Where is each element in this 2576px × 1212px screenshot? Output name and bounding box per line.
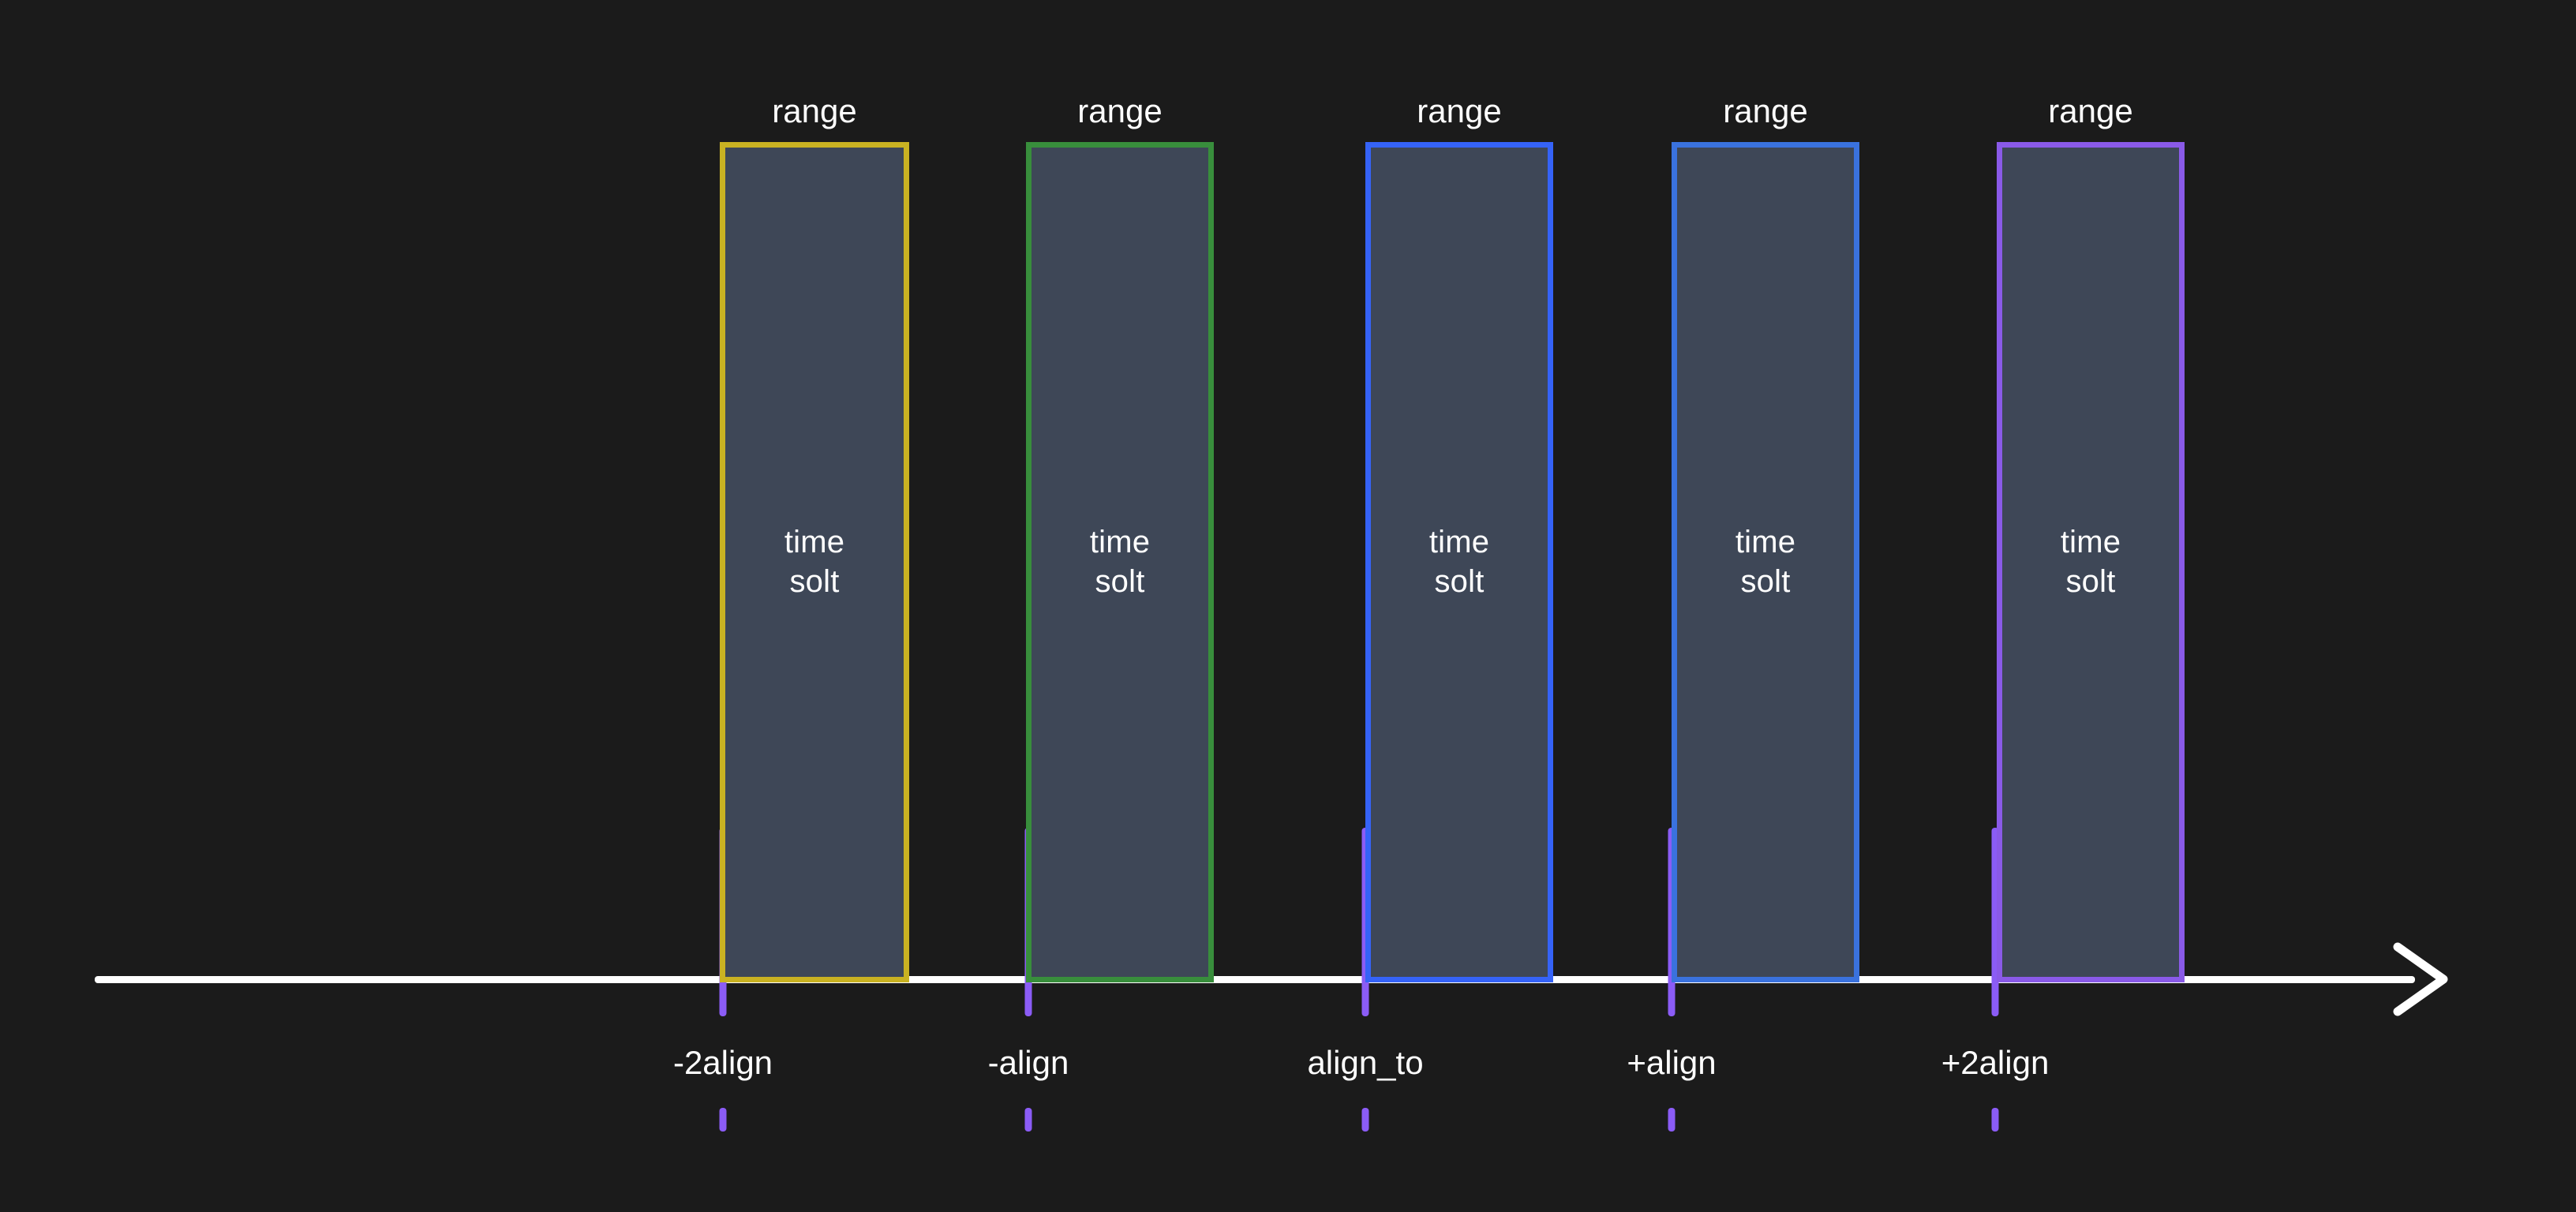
- axis-tick-dash-slot-minus-align: [1025, 1108, 1032, 1132]
- slot-plus-2align: time solt: [1997, 142, 2185, 982]
- range-caption: range: [2048, 95, 2132, 128]
- slot-body-label: time solt: [1090, 523, 1150, 601]
- slot-minus-align: time solt: [1026, 142, 1214, 982]
- axis-tick-label-slot-minus-2align: -2align: [673, 1046, 773, 1079]
- arrow-right-icon: [2387, 936, 2458, 1023]
- range-caption: range: [1077, 95, 1162, 128]
- diagram-canvas: rangetime solt-2alignrangetime solt-alig…: [0, 0, 2576, 1212]
- range-caption: range: [1723, 95, 1807, 128]
- axis-tick-label-slot-plus-align: +align: [1627, 1046, 1716, 1079]
- axis-tick-label-slot-plus-2align: +2align: [1941, 1046, 2050, 1079]
- range-caption: range: [1417, 95, 1501, 128]
- slot-body-label: time solt: [2061, 523, 2121, 601]
- axis-tick-dash-slot-plus-2align: [1992, 1108, 1999, 1132]
- axis-tick-label-slot-align-to: align_to: [1307, 1046, 1423, 1079]
- slot-body-label: time solt: [1429, 523, 1489, 601]
- range-caption: range: [772, 95, 856, 128]
- slot-body-label: time solt: [784, 523, 844, 601]
- slot-align-to: time solt: [1365, 142, 1553, 982]
- axis-tick-dash-slot-align-to: [1362, 1108, 1369, 1132]
- axis-tick-label-slot-minus-align: -align: [988, 1046, 1069, 1079]
- axis-tick-dash-slot-minus-2align: [720, 1108, 727, 1132]
- slot-minus-2align: time solt: [720, 142, 909, 982]
- slot-body-label: time solt: [1735, 523, 1795, 601]
- slot-plus-align: time solt: [1672, 142, 1859, 982]
- axis-tick-dash-slot-plus-align: [1668, 1108, 1676, 1132]
